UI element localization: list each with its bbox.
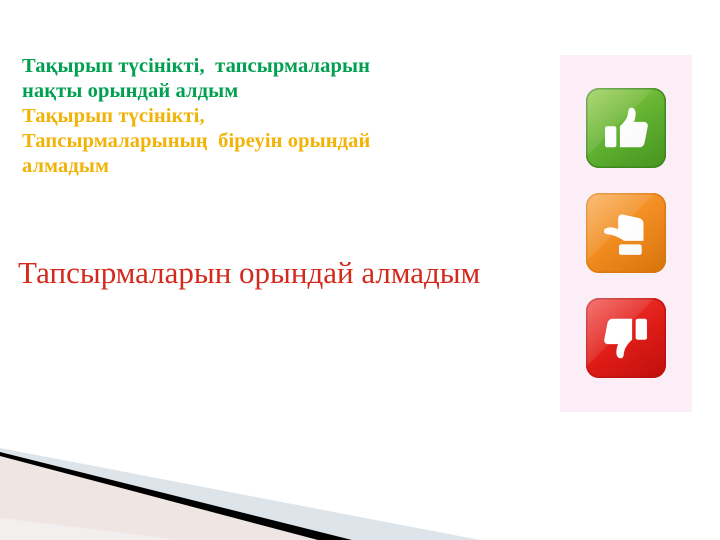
thumbs-down-icon xyxy=(586,298,666,378)
criteria-line-3: Тақырып түсінікті, xyxy=(22,104,522,129)
highlight-statement: Тапсырмаларын орындай алмадым xyxy=(18,253,488,293)
thumbs-sideways-icon xyxy=(586,193,666,273)
corner-banner xyxy=(0,430,480,540)
slide-canvas: Тақырып түсінікті, тапсырмаларын нақты о… xyxy=(0,0,720,540)
thumbs-up-button[interactable] xyxy=(586,88,666,168)
criteria-line-1: Тақырып түсінікті, тапсырмаларын xyxy=(22,54,522,79)
thumbs-down-button[interactable] xyxy=(586,298,666,378)
criteria-line-4: Тапсырмаларының біреуін орындай xyxy=(22,129,522,154)
thumbs-up-icon xyxy=(586,88,666,168)
criteria-line-5: алмадым xyxy=(22,154,522,179)
feedback-icon-panel xyxy=(560,55,692,412)
thumbs-sideways-button[interactable] xyxy=(586,193,666,273)
assessment-criteria-text: Тақырып түсінікті, тапсырмаларын нақты о… xyxy=(22,54,522,179)
criteria-line-2: нақты орындай алдым xyxy=(22,79,522,104)
